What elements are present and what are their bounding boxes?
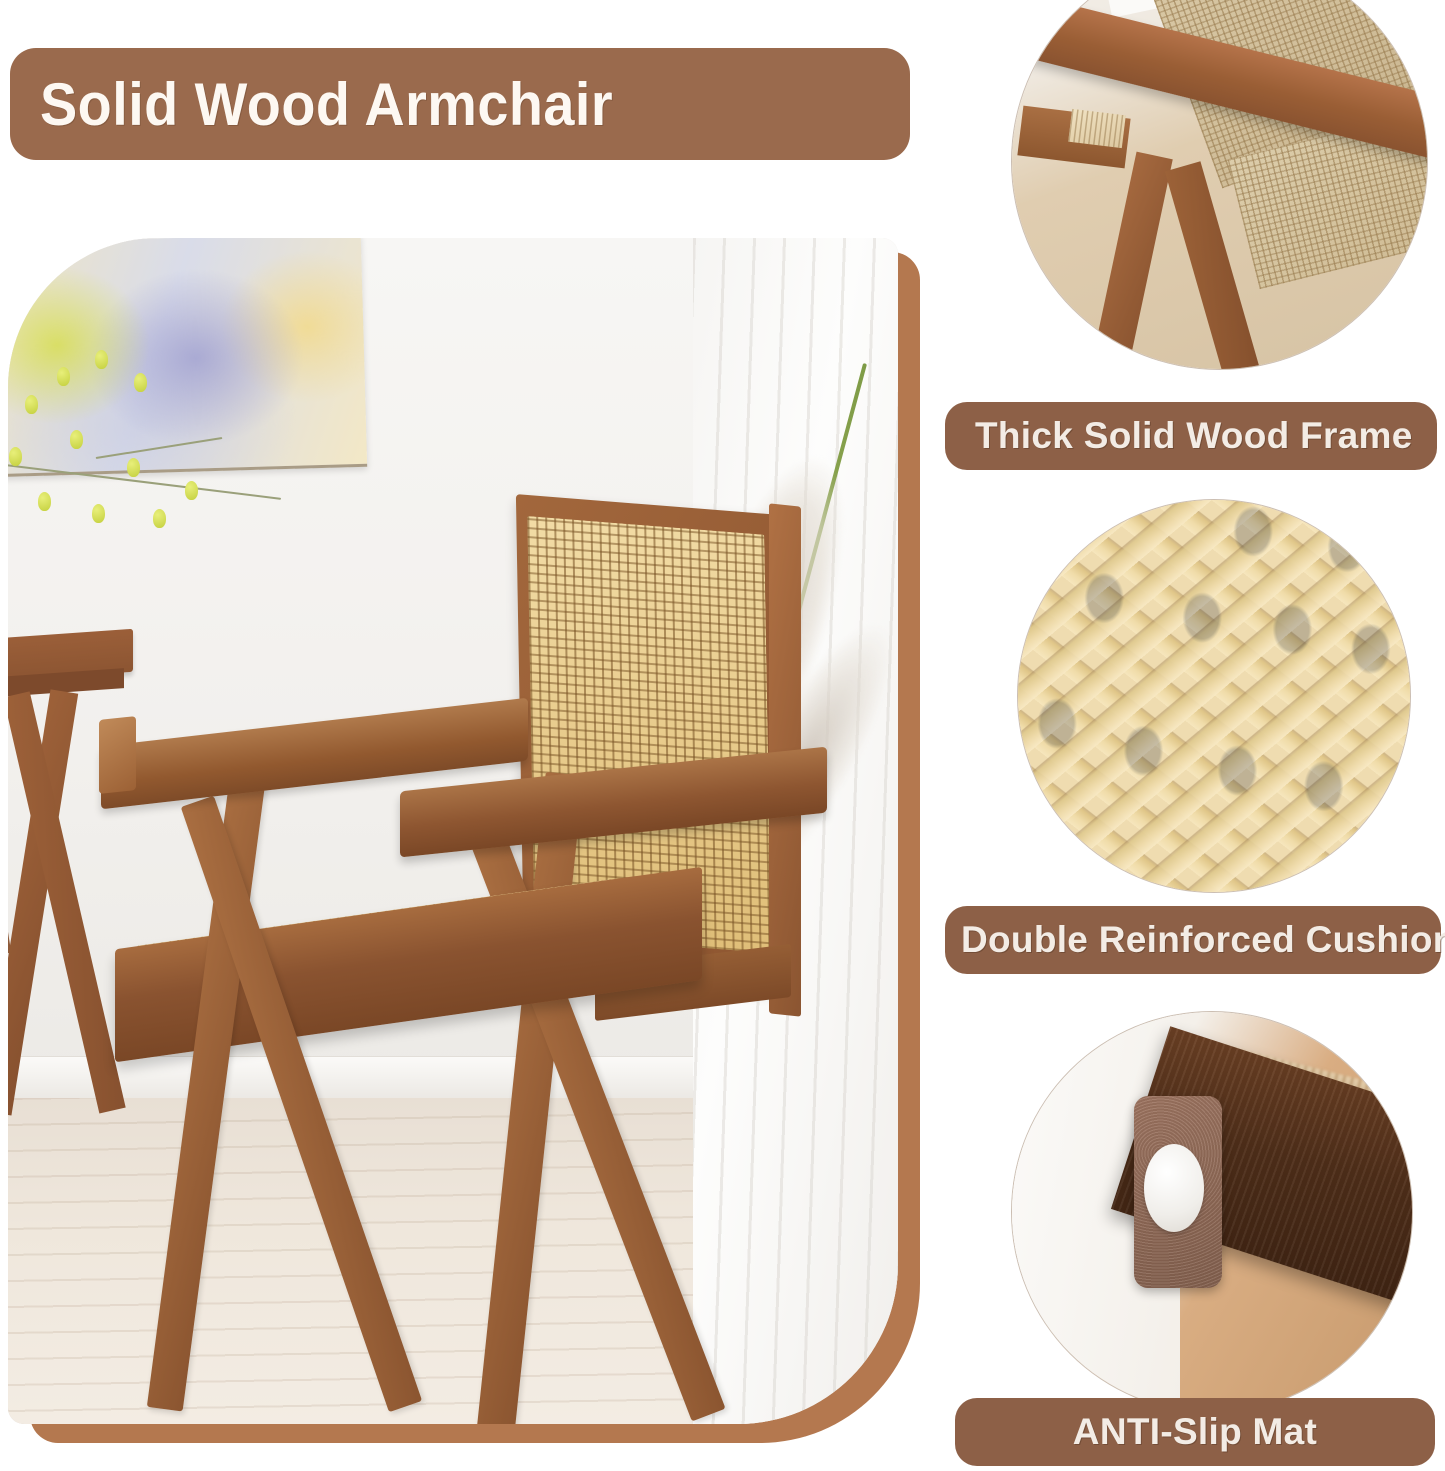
feature-label-text: Double Reinforced Cushion: [961, 919, 1445, 961]
forsythia-branch: [8, 333, 320, 618]
anti-slip-foot-pad-closeup: [1012, 1012, 1412, 1412]
page-title: Solid Wood Armchair: [40, 70, 613, 139]
armchair-lifestyle-photo: [8, 238, 898, 1424]
chair-armrest-cap: [99, 716, 136, 793]
title-banner: Solid Wood Armchair: [10, 48, 910, 160]
feature-label-mat: ANTI-Slip Mat: [955, 1398, 1435, 1466]
main-photo-container: [8, 238, 920, 1443]
feature-label-frame: Thick Solid Wood Frame: [945, 402, 1437, 470]
feature-label-cushion: Double Reinforced Cushion: [945, 906, 1441, 974]
feature-label-text: ANTI-Slip Mat: [1073, 1411, 1317, 1453]
feature-label-text: Thick Solid Wood Frame: [975, 415, 1413, 457]
room-scene: [8, 238, 898, 1424]
rattan-weave-closeup: [1018, 500, 1410, 892]
wood-frame-joint-closeup: [1012, 0, 1427, 369]
